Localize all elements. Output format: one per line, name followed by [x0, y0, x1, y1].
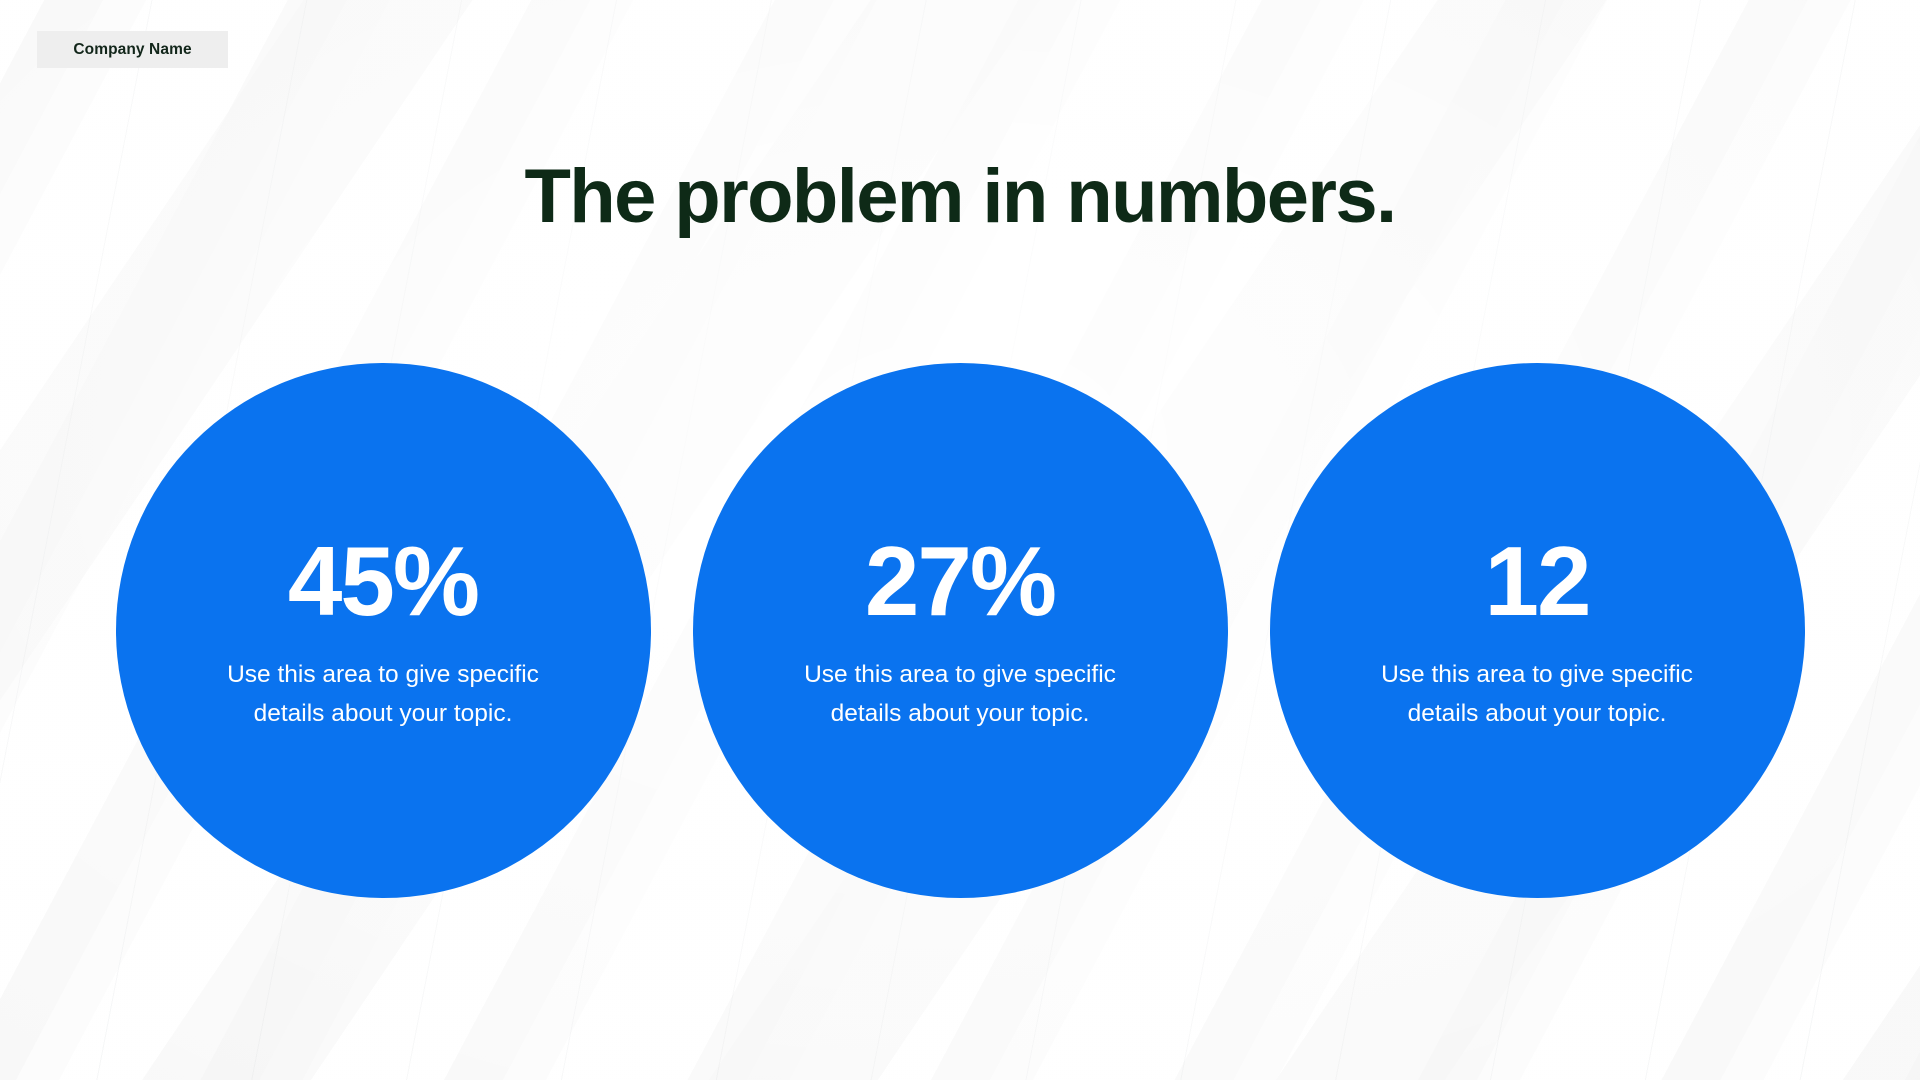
stat-value-2: 27% [865, 529, 1055, 633]
stats-row: 45% Use this area to give specific detai… [0, 363, 1920, 898]
stat-value-1: 45% [288, 529, 478, 633]
stat-circle-3[interactable]: 12 Use this area to give specific detail… [1270, 363, 1805, 898]
stat-circle-2[interactable]: 27% Use this area to give specific detai… [693, 363, 1228, 898]
company-name-label: Company Name [73, 41, 191, 59]
stat-value-3: 12 [1484, 529, 1589, 633]
stat-circle-1[interactable]: 45% Use this area to give specific detai… [116, 363, 651, 898]
slide-canvas: Company Name The problem in numbers. 45%… [0, 0, 1920, 1080]
stat-description-3: Use this area to give specific details a… [1357, 655, 1717, 733]
company-name-badge[interactable]: Company Name [37, 31, 228, 68]
stat-description-2: Use this area to give specific details a… [780, 655, 1140, 733]
stat-description-1: Use this area to give specific details a… [203, 655, 563, 733]
page-title: The problem in numbers. [0, 154, 1920, 240]
